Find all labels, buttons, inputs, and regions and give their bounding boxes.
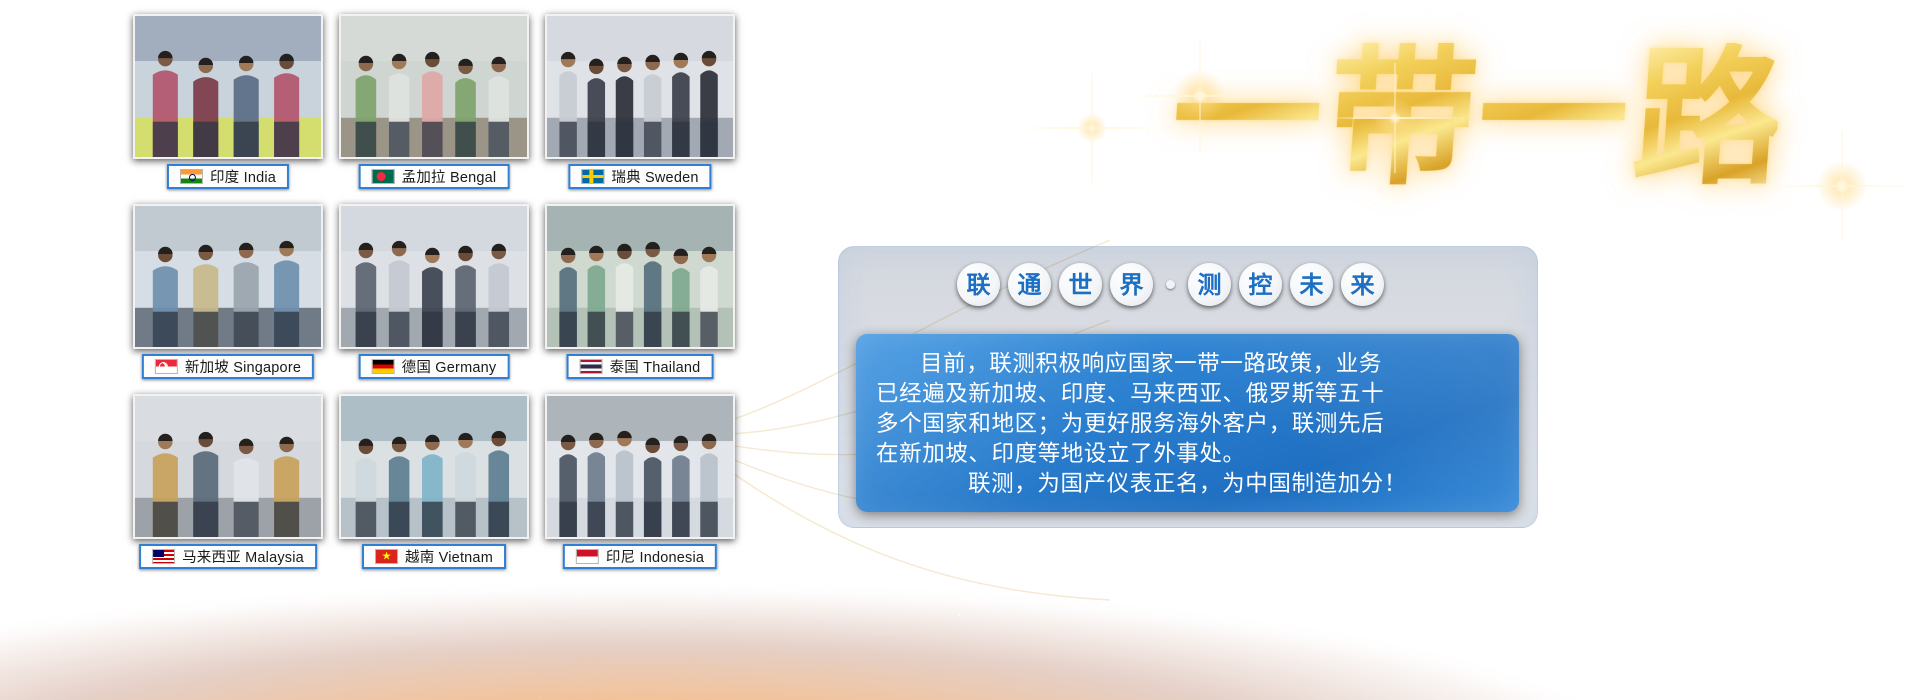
thailand-outdoor-photo[interactable]	[545, 204, 735, 349]
calligraphy-char: 路	[1629, 43, 1784, 193]
country-caption: 新加坡 Singapore	[142, 354, 314, 379]
star-icon	[755, 233, 756, 234]
star-icon	[1081, 91, 1083, 93]
star-icon	[1051, 555, 1053, 557]
slogan-badge-char: 界	[1120, 273, 1144, 297]
star-icon	[52, 502, 53, 503]
slogan-badge-char: 未	[1300, 273, 1324, 297]
country-card[interactable]: 泰国 Thailand	[545, 204, 735, 386]
malaysia-conference-photo[interactable]	[133, 394, 323, 539]
country-caption: 马来西亚 Malaysia	[139, 544, 317, 569]
country-caption-label: 印尼 Indonesia	[606, 546, 704, 567]
slogan-badge: 世	[1059, 263, 1102, 306]
slogan-badge: 通	[1008, 263, 1051, 306]
country-caption: 德国 Germany	[359, 354, 510, 379]
star-icon	[56, 650, 58, 652]
country-caption-label: 孟加拉 Bengal	[402, 166, 497, 187]
star-icon	[785, 517, 786, 518]
slogan-badge-char: 来	[1351, 273, 1375, 297]
star-icon	[81, 252, 82, 253]
thailand-flag-icon	[580, 359, 603, 374]
star-icon	[1609, 646, 1610, 647]
country-caption-label: 印度 India	[210, 166, 276, 187]
star-icon	[994, 122, 996, 124]
country-caption: 印度 India	[167, 164, 289, 189]
star-icon	[1417, 113, 1418, 114]
star-icon	[1011, 66, 1013, 68]
star-icon	[1323, 616, 1325, 618]
country-card[interactable]: 瑞典 Sweden	[545, 14, 735, 196]
india-exhibition-photo[interactable]	[133, 14, 323, 159]
star-icon	[1632, 423, 1633, 424]
star-icon	[258, 633, 259, 634]
headline-calligraphy: 一带一路	[1035, 10, 1915, 225]
star-icon	[16, 164, 18, 166]
star-icon	[1261, 104, 1263, 106]
singapore-office-photo[interactable]	[133, 204, 323, 349]
country-card[interactable]: 马来西亚 Malaysia	[133, 394, 323, 576]
star-icon	[1275, 208, 1276, 209]
star-icon	[1909, 444, 1910, 445]
country-caption: 越南 Vietnam	[362, 544, 506, 569]
star-icon	[1, 84, 2, 85]
bangladesh-flag-icon	[372, 169, 395, 184]
country-card[interactable]: 德国 Germany	[339, 204, 529, 386]
country-caption: 瑞典 Sweden	[568, 164, 711, 189]
star-icon	[774, 51, 776, 53]
star-icon	[1110, 9, 1112, 11]
star-icon	[1306, 162, 1308, 164]
star-icon	[1789, 315, 1791, 317]
slogan-badge: 控	[1239, 263, 1282, 306]
star-icon	[1753, 507, 1754, 508]
star-icon	[302, 630, 304, 632]
sweden-group-photo[interactable]	[545, 14, 735, 159]
vietnam-group-photo[interactable]	[339, 394, 529, 539]
star-icon	[1293, 647, 1294, 648]
country-photo-grid: 印度 India孟加拉 Bengal瑞典 Sweden新加坡 Singapore…	[133, 14, 753, 586]
star-icon	[113, 269, 115, 271]
star-icon	[1309, 690, 1310, 691]
star-icon	[1, 198, 3, 200]
star-icon	[1822, 201, 1823, 202]
slogan-badge-char: 世	[1069, 273, 1093, 297]
slogan-badge-char: 控	[1249, 273, 1273, 297]
slogan-badge-char: 通	[1018, 273, 1042, 297]
sparkle-icon	[1813, 157, 1871, 215]
star-icon	[1700, 384, 1701, 385]
star-icon	[1016, 543, 1017, 544]
country-card[interactable]: 新加坡 Singapore	[133, 204, 323, 386]
description-text-box: 目前，联测积极响应国家一带一路政策，业务已经遍及新加坡、印度、马来西亚、俄罗斯等…	[856, 334, 1519, 512]
star-icon	[94, 19, 95, 20]
star-icon	[113, 613, 115, 615]
calligraphy-char: 一	[1473, 43, 1634, 193]
star-icon	[922, 531, 924, 533]
star-icon	[1102, 166, 1103, 167]
star-icon	[757, 550, 758, 551]
star-icon	[237, 598, 239, 600]
calligraphy-char: 带	[1323, 43, 1478, 193]
star-icon	[25, 615, 26, 616]
star-icon	[1570, 585, 1572, 587]
star-icon	[1122, 622, 1123, 623]
star-icon	[1450, 7, 1452, 9]
star-icon	[1069, 599, 1071, 601]
star-icon	[1713, 48, 1714, 49]
slogan-badge-row: 联通世界测控未来	[957, 263, 1384, 306]
star-icon	[1072, 140, 1074, 142]
star-icon	[1761, 638, 1763, 640]
country-caption-label: 德国 Germany	[402, 356, 497, 377]
indonesia-flag-icon	[576, 549, 599, 564]
country-caption-label: 新加坡 Singapore	[185, 356, 301, 377]
star-icon	[20, 202, 21, 203]
slogan-badge: 来	[1341, 263, 1384, 306]
description-line: 多个国家和地区；为更好服务海外客户，联测先后	[876, 409, 1499, 439]
description-line: 在新加坡、印度等地设立了外事处。	[876, 439, 1499, 469]
star-icon	[882, 134, 884, 136]
sparkle-icon	[1170, 66, 1230, 126]
description-line: 已经遍及新加坡、印度、马来西亚、俄罗斯等五十	[876, 379, 1499, 409]
star-icon	[1789, 653, 1791, 655]
country-card[interactable]: 印尼 Indonesia	[545, 394, 735, 576]
star-icon	[1816, 211, 1818, 213]
star-icon	[561, 590, 562, 591]
country-caption-label: 瑞典 Sweden	[611, 166, 698, 187]
star-icon	[1495, 648, 1497, 650]
star-icon	[974, 92, 976, 94]
star-icon	[809, 76, 810, 77]
country-caption-label: 泰国 Thailand	[610, 356, 701, 377]
star-icon	[853, 128, 855, 130]
slogan-badge: 联	[957, 263, 1000, 306]
slogan-badge: 界	[1110, 263, 1153, 306]
star-icon	[981, 234, 982, 235]
country-caption-label: 马来西亚 Malaysia	[182, 546, 304, 567]
star-icon	[797, 209, 799, 211]
indonesia-office-photo[interactable]	[545, 394, 735, 539]
country-caption-label: 越南 Vietnam	[405, 546, 493, 567]
germany-flag-icon	[372, 359, 395, 374]
star-icon	[540, 697, 541, 698]
star-icon	[1894, 219, 1895, 220]
star-icon	[1892, 371, 1893, 372]
slogan-badge: 未	[1290, 263, 1333, 306]
country-caption: 孟加拉 Bengal	[359, 164, 510, 189]
star-icon	[869, 219, 871, 221]
slogan-badge-char: 联	[967, 273, 991, 297]
sparkle-icon	[1370, 93, 1420, 143]
star-icon	[23, 595, 25, 597]
description-line: 联测，为国产仪表正名，为中国制造加分！	[876, 469, 1499, 499]
banner-root: 印度 India孟加拉 Bengal瑞典 Sweden新加坡 Singapore…	[0, 0, 1920, 700]
star-icon	[874, 542, 875, 543]
country-caption: 印尼 Indonesia	[563, 544, 717, 569]
sweden-flag-icon	[581, 169, 604, 184]
star-icon	[1782, 548, 1783, 549]
star-icon	[125, 424, 127, 426]
star-icon	[1871, 180, 1873, 182]
malaysia-flag-icon	[152, 549, 175, 564]
star-icon	[1248, 14, 1250, 16]
country-card[interactable]: 印度 India	[133, 14, 323, 196]
sparkle-icon	[1075, 111, 1109, 145]
country-card[interactable]: 孟加拉 Bengal	[339, 14, 529, 196]
country-caption: 泰国 Thailand	[567, 354, 714, 379]
description-line: 目前，联测积极响应国家一带一路政策，业务	[876, 349, 1499, 379]
star-icon	[205, 3, 206, 4]
germany-booth-photo[interactable]	[339, 204, 529, 349]
star-icon	[122, 433, 124, 435]
star-icon	[1293, 234, 1295, 236]
singapore-flag-icon	[155, 359, 178, 374]
star-icon	[842, 74, 843, 75]
star-icon	[1429, 629, 1430, 630]
india-flag-icon	[180, 169, 203, 184]
country-card[interactable]: 越南 Vietnam	[339, 394, 529, 576]
star-icon	[958, 614, 960, 616]
star-icon	[1016, 609, 1018, 611]
star-icon	[830, 257, 832, 259]
star-icon	[1270, 571, 1271, 572]
star-icon	[1909, 29, 1910, 30]
star-icon	[880, 211, 881, 212]
star-icon	[1619, 358, 1620, 359]
star-icon	[1915, 147, 1916, 148]
bangladesh-group-photo[interactable]	[339, 14, 529, 159]
star-icon	[1663, 384, 1665, 386]
star-icon	[959, 228, 960, 229]
star-icon	[1811, 136, 1813, 138]
star-icon	[1163, 613, 1165, 615]
star-icon	[834, 40, 836, 42]
slogan-separator-dot	[1166, 280, 1175, 289]
star-icon	[1331, 78, 1332, 79]
slogan-badge-char: 测	[1198, 273, 1222, 297]
star-icon	[78, 153, 79, 154]
slogan-badge: 测	[1188, 263, 1231, 306]
vietnam-flag-icon	[375, 549, 398, 564]
calligraphy-char: 一	[1167, 43, 1328, 193]
star-icon	[1301, 655, 1303, 657]
